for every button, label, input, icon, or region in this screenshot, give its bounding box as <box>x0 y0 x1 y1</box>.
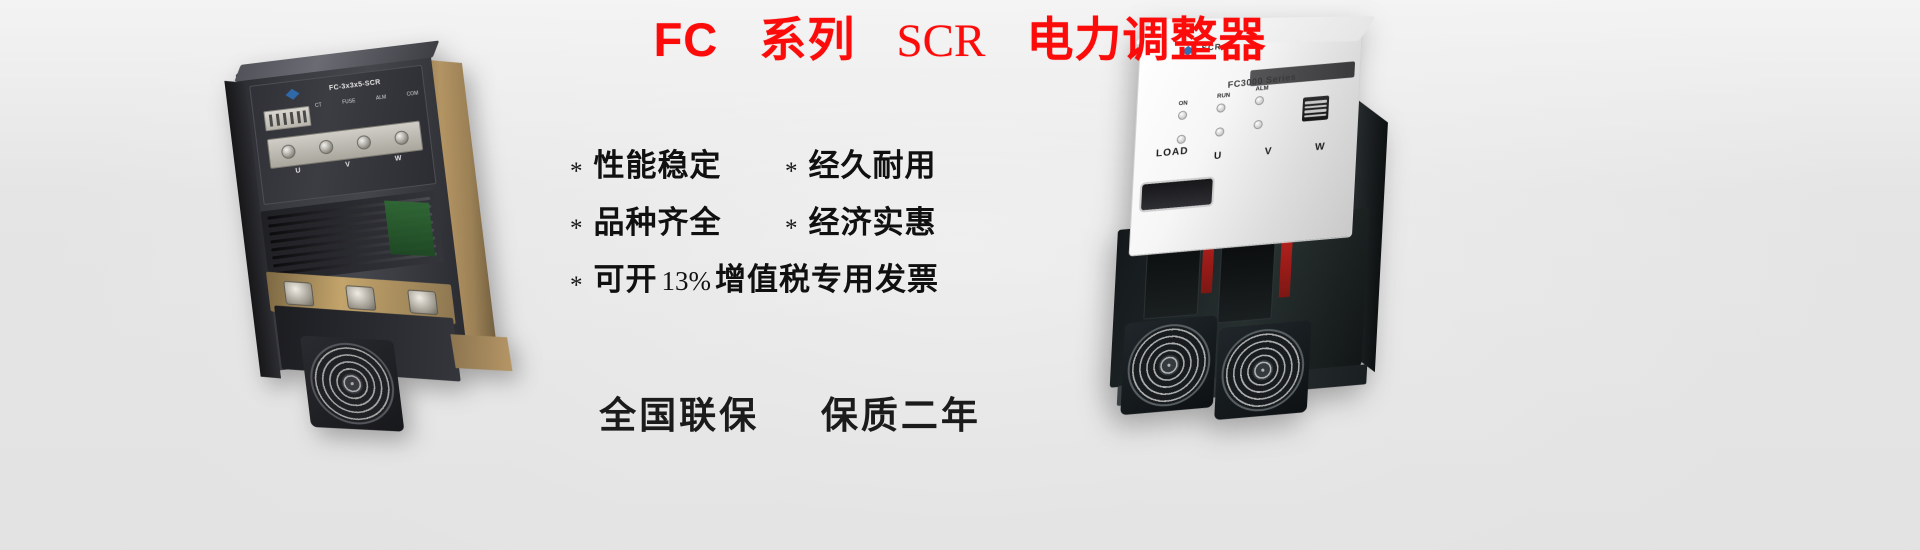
phase-label-u: U <box>1214 150 1222 162</box>
title-part-fc: FC <box>654 13 719 66</box>
feature-label: 经济实惠 <box>809 197 937 242</box>
slogan-part-nationwide: 全国联保 <box>599 394 759 437</box>
product-banner: FC-3x3x5-SCR CTFUSEALMCOM U V W <box>0 0 1920 550</box>
fan-grill-icon <box>306 341 399 427</box>
left-product-mounting-foot <box>450 334 512 371</box>
right-product-cooling-fan <box>1214 320 1311 420</box>
product-image-right: SCR FC3000 Series ON RUN ALM LOAD U V W <box>1049 14 1401 451</box>
title-part-scr: SCR <box>896 15 985 67</box>
feature-row: * 品种齐全 * 经济实惠 <box>570 197 1000 254</box>
phase-label-u: U <box>295 167 301 175</box>
banner-title: FC 系列 SCR 电力调整器 <box>0 14 1920 68</box>
feature-item-variety: * 品种齐全 <box>570 197 785 242</box>
phase-label-w: W <box>395 155 402 163</box>
terminal-screw-icon <box>394 130 410 146</box>
invoice-tax-rate: 13% <box>658 266 716 297</box>
terminal-screw-icon <box>281 144 297 160</box>
invoice-suffix: 增值税专用发票 <box>715 254 939 299</box>
slogan-part-warranty: 保质二年 <box>821 394 981 437</box>
power-lug-icon <box>407 289 438 315</box>
feature-label: 经久耐用 <box>809 140 937 185</box>
bullet-star-icon: * <box>570 273 583 298</box>
phase-label-v: V <box>345 161 350 169</box>
left-product-cooling-fan <box>300 336 405 432</box>
left-product-faceplate: FC-3x3x5-SCR CTFUSEALMCOM U V W <box>249 65 436 205</box>
feature-label: 性能稳定 <box>594 140 722 185</box>
feature-row: * 性能稳定 * 经久耐用 <box>570 140 1000 197</box>
left-product-dip-switch <box>263 106 311 131</box>
feature-list: * 性能稳定 * 经久耐用 * 品种齐全 * 经济实惠 * 可开 13% <box>570 140 1000 311</box>
left-product-circuit-board <box>384 201 435 257</box>
feature-item-durable: * 经久耐用 <box>785 140 937 185</box>
fan-grill-icon <box>1219 326 1306 415</box>
title-part-series: 系列 <box>759 13 855 68</box>
power-lug-icon <box>345 285 376 311</box>
right-product-dip-switch <box>1302 95 1329 121</box>
feature-item-stable: * 性能稳定 <box>570 140 785 185</box>
invoice-prefix: 可开 <box>594 254 658 299</box>
diamond-logo-icon <box>285 88 300 101</box>
terminal-screw-icon <box>356 135 372 151</box>
product-image-left: FC-3x3x5-SCR CTFUSEALMCOM U V W <box>216 33 529 433</box>
bullet-star-icon: * <box>570 159 583 184</box>
feature-row: * 可开 13% 增值税专用发票 <box>570 254 1000 311</box>
fan-grill-icon <box>1126 321 1213 410</box>
feature-label: 品种齐全 <box>594 197 722 242</box>
bullet-star-icon: * <box>570 216 583 241</box>
feature-item-economical: * 经济实惠 <box>785 197 937 242</box>
right-product-cooling-fan <box>1120 315 1217 415</box>
terminal-screw-icon <box>318 139 334 155</box>
feature-item-invoice: * 可开 13% 增值税专用发票 <box>570 254 939 299</box>
phase-label-w: W <box>1315 141 1325 153</box>
bullet-star-icon: * <box>785 216 798 241</box>
warranty-slogan: 全国联保 保质二年 <box>570 385 1010 439</box>
title-part-product: 电力调整器 <box>1026 13 1266 68</box>
left-product-terminal-legend: CTFUSEALMCOM <box>315 90 421 125</box>
left-product-model-label: FC-3x3x5-SCR <box>329 79 381 92</box>
power-lug-icon <box>283 281 314 307</box>
bullet-star-icon: * <box>785 159 798 184</box>
phase-label-v: V <box>1264 146 1271 158</box>
